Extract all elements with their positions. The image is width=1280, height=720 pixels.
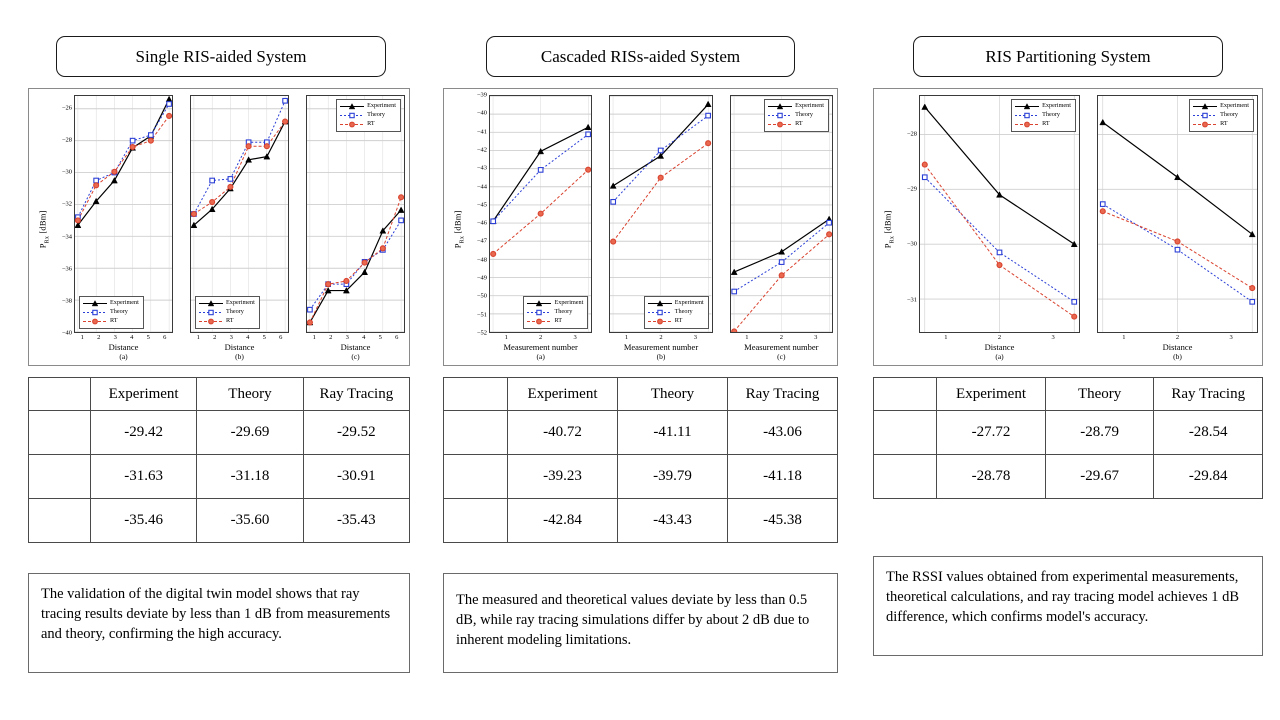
table-cell: -35.60 — [197, 499, 303, 543]
subplot-caption: (a) — [919, 352, 1080, 363]
table-header-cell: Ray Tracing — [1154, 378, 1263, 411]
x-tick-label: 6 — [163, 334, 166, 341]
x-axis-title: Distance — [306, 341, 405, 352]
legend-label: Experiment — [367, 102, 396, 111]
table-wrap-cascaded: ExperimentTheoryRay Tracing-40.72-41.11-… — [443, 377, 838, 543]
table-row: -39.23-39.79-41.18 — [444, 455, 838, 499]
y-tick-label: −39 — [477, 92, 487, 99]
legend-key-theory — [1192, 112, 1218, 119]
table-cell: -35.46 — [90, 499, 196, 543]
x-tick-label: 3 — [114, 334, 117, 341]
legend-row: Experiment — [339, 102, 396, 111]
chart-legend: ExperimentTheoryRT — [523, 296, 588, 329]
y-axis-label-wrap-2: PRx [dBm] — [876, 95, 902, 363]
x-label-row: Measurement number (c) — [713, 341, 833, 363]
y-tick-label: −50 — [477, 293, 487, 300]
x-tick-labels: 123456 — [190, 333, 289, 341]
y-tick-column — [713, 95, 730, 333]
legend-label: Experiment — [1220, 102, 1249, 111]
legend-key-theory — [339, 112, 365, 119]
table-cell — [444, 455, 508, 499]
x-tick-label: 3 — [1230, 334, 1233, 341]
y-tick-label: −52 — [477, 330, 487, 337]
chart-legend: ExperimentTheoryRT — [336, 99, 401, 132]
x-axis: 123 — [713, 333, 833, 341]
legend-row: Experiment — [526, 299, 583, 308]
legend-label: Experiment — [1042, 102, 1071, 111]
subplot-caption: (a) — [74, 352, 173, 363]
x-axis-title: Distance — [74, 341, 173, 352]
table-cell: -28.79 — [1045, 411, 1154, 455]
table-cell — [444, 411, 508, 455]
legend-row: Theory — [767, 111, 824, 120]
x-tick-label: 1 — [625, 334, 628, 341]
x-axis-title: Distance — [919, 341, 1080, 352]
table-cell: -28.78 — [937, 455, 1046, 499]
y-tick-label: −32 — [62, 201, 72, 208]
x-tick-label: 2 — [329, 334, 332, 341]
subplot-caption: (b) — [609, 352, 712, 363]
x-tick-label: 1 — [197, 334, 200, 341]
subplot-b-single: ExperimentTheoryRT 123456 Distance (b) — [173, 95, 289, 363]
legend-row: Experiment — [198, 299, 255, 308]
y-tick-label: −47 — [477, 238, 487, 245]
table-cell: -29.84 — [1154, 455, 1263, 499]
table-row: -29.42-29.69-29.52 — [29, 411, 410, 455]
x-tick-label: 2 — [539, 334, 542, 341]
plot-area: ExperimentTheoryRT — [489, 95, 592, 333]
table-cell: -39.79 — [618, 455, 728, 499]
legend-row: Theory — [1192, 111, 1249, 120]
table-wrap-partitioning: ExperimentTheoryRay Tracing-27.72-28.79-… — [873, 377, 1263, 499]
figure-page: Single RIS-aided System PRx [dBm] −26−28… — [0, 0, 1280, 720]
note-cascaded: The measured and theoretical values devi… — [443, 573, 838, 673]
table-header-cell: Theory — [197, 378, 303, 411]
plot-row: ExperimentTheoryRT — [1080, 95, 1258, 333]
legend-key-experiment — [526, 300, 552, 307]
x-label-row: Distance (b) — [173, 341, 289, 363]
y-tick-column: −28−29−30−31 — [902, 95, 919, 333]
table-header-cell — [29, 378, 91, 411]
table-row: -31.63-31.18-30.91 — [29, 455, 410, 499]
legend-row: Theory — [647, 308, 704, 317]
x-tick-labels: 123 — [730, 333, 833, 341]
legend-row: Experiment — [1192, 102, 1249, 111]
x-label-row: Distance (a) — [57, 341, 173, 363]
legend-row: RT — [339, 120, 396, 129]
x-tick-label: 3 — [1052, 334, 1055, 341]
subplot-c-cascaded: ExperimentTheoryRT 123 Measurement numbe… — [713, 95, 833, 363]
table-cell: -41.11 — [618, 411, 728, 455]
y-tick-label: −43 — [477, 165, 487, 172]
legend-key-experiment — [1192, 103, 1218, 110]
x-tick-label: 1 — [505, 334, 508, 341]
subplot-caption: (c) — [306, 352, 405, 363]
y-tick-label: −48 — [477, 256, 487, 263]
column-cascaded-ris: Cascaded RISs-aided System PRx [dBm] −39… — [443, 0, 838, 673]
x-tick-labels: 123 — [1097, 333, 1258, 341]
x-axis: 123456 — [289, 333, 405, 341]
table-row: -27.72-28.79-28.54 — [874, 411, 1263, 455]
x-tick-label: 1 — [313, 334, 316, 341]
x-tick-label: 4 — [362, 334, 365, 341]
x-tick-label: 2 — [780, 334, 783, 341]
y-tick-label: −51 — [477, 311, 487, 318]
y-tick-label: −46 — [477, 220, 487, 227]
table-row: -35.46-35.60-35.43 — [29, 499, 410, 543]
legend-row: RT — [198, 317, 255, 326]
x-label-row: Measurement number (b) — [592, 341, 712, 363]
legend-label: Experiment — [795, 102, 824, 111]
table-cell: -41.18 — [728, 455, 838, 499]
legend-label: Theory — [1220, 111, 1238, 120]
y-tick-label: −38 — [62, 297, 72, 304]
table-cell — [874, 411, 937, 455]
plot-area: ExperimentTheoryRT — [306, 95, 405, 333]
table-row: -42.84-43.43-45.38 — [444, 499, 838, 543]
plot-area: ExperimentTheoryRT — [1097, 95, 1258, 333]
x-axis-title: Measurement number — [489, 341, 592, 352]
x-tick-label: 3 — [573, 334, 576, 341]
plot-area: ExperimentTheoryRT — [190, 95, 289, 333]
legend-label: RT — [1042, 120, 1050, 129]
column-ris-partitioning: RIS Partitioning System PRx [dBm] −28−29… — [873, 0, 1263, 656]
legend-label: Experiment — [675, 299, 704, 308]
table-cell: -43.43 — [618, 499, 728, 543]
chart-legend: ExperimentTheoryRT — [79, 296, 144, 329]
y-tick-column — [289, 95, 306, 333]
legend-key-theory — [82, 309, 108, 316]
legend-row: Theory — [82, 308, 139, 317]
chart-legend: ExperimentTheoryRT — [195, 296, 260, 329]
y-tick-column: −39−40−41−42−43−44−45−46−47−48−49−50−51−… — [472, 95, 489, 333]
y-tick-label: −44 — [477, 183, 487, 190]
table-header-cell — [444, 378, 508, 411]
x-tick-labels: 123456 — [74, 333, 173, 341]
legend-row: RT — [1014, 120, 1071, 129]
y-tick-label: −26 — [62, 104, 72, 111]
legend-key-experiment — [767, 103, 793, 110]
x-axis: 123 — [902, 333, 1080, 341]
subplot-b-cascaded: ExperimentTheoryRT 123 Measurement numbe… — [592, 95, 712, 363]
legend-row: Experiment — [767, 102, 824, 111]
legend-label: RT — [795, 120, 803, 129]
x-axis: 123456 — [173, 333, 289, 341]
legend-label: Experiment — [226, 299, 255, 308]
table-header-row: ExperimentTheoryRay Tracing — [874, 378, 1263, 411]
table-header-cell: Ray Tracing — [728, 378, 838, 411]
x-tick-label: 2 — [659, 334, 662, 341]
x-tick-label: 3 — [694, 334, 697, 341]
x-label-row: Distance (b) — [1080, 341, 1258, 363]
legend-key-rt — [1192, 121, 1218, 128]
y-tick-column: −26−28−30−32−34−36−38−40 — [57, 95, 74, 333]
table-cell — [29, 499, 91, 543]
x-axis: 123 — [1080, 333, 1258, 341]
x-tick-labels: 123 — [489, 333, 592, 341]
y-tick-column — [592, 95, 609, 333]
legend-label: Experiment — [110, 299, 139, 308]
plot-area: ExperimentTheoryRT — [74, 95, 173, 333]
table-cell: -35.43 — [303, 499, 409, 543]
subplot-caption: (c) — [730, 352, 833, 363]
results-table-single: ExperimentTheoryRay Tracing-29.42-29.69-… — [28, 377, 410, 543]
x-tick-label: 1 — [944, 334, 947, 341]
y-tick-label: −34 — [62, 233, 72, 240]
legend-key-rt — [339, 121, 365, 128]
x-tick-labels: 123 — [609, 333, 712, 341]
subplot-a-single: −26−28−30−32−34−36−38−40 ExperimentTheor… — [57, 95, 173, 363]
table-row: -40.72-41.11-43.06 — [444, 411, 838, 455]
x-axis-title: Distance — [190, 341, 289, 352]
y-tick-label: −31 — [907, 296, 917, 303]
y-tick-label: −29 — [907, 186, 917, 193]
x-label-row: Distance (c) — [289, 341, 405, 363]
plot-row: −28−29−30−31 ExperimentTheoryRT — [902, 95, 1080, 333]
y-tick-label: −28 — [907, 130, 917, 137]
chart-legend: ExperimentTheoryRT — [1189, 99, 1254, 132]
table-cell: -43.06 — [728, 411, 838, 455]
x-tick-label: 2 — [1176, 334, 1179, 341]
subplot-b-partitioning: ExperimentTheoryRT 123 Distance (b) — [1080, 95, 1258, 363]
legend-label: Theory — [110, 308, 128, 317]
y-tick-label: −42 — [477, 146, 487, 153]
column-title-single-ris: Single RIS-aided System — [56, 36, 386, 77]
note-partitioning: The RSSI values obtained from experiment… — [873, 556, 1263, 656]
legend-label: Theory — [226, 308, 244, 317]
legend-key-rt — [1014, 121, 1040, 128]
y-axis-label-1: PRx [dBm] — [453, 210, 466, 248]
legend-key-rt — [82, 318, 108, 325]
x-tick-label: 3 — [814, 334, 817, 341]
legend-label: Theory — [554, 308, 572, 317]
table-header-row: ExperimentTheoryRay Tracing — [29, 378, 410, 411]
figure-ris-partitioning: PRx [dBm] −28−29−30−31 ExperimentTheoryR… — [873, 88, 1263, 366]
y-tick-label: −36 — [62, 265, 72, 272]
legend-key-theory — [198, 309, 224, 316]
legend-key-experiment — [1014, 103, 1040, 110]
x-tick-label: 5 — [147, 334, 150, 341]
legend-row: Experiment — [1014, 102, 1071, 111]
legend-label: Experiment — [554, 299, 583, 308]
table-cell — [29, 455, 91, 499]
legend-key-theory — [526, 309, 552, 316]
y-tick-label: −28 — [62, 137, 72, 144]
x-axis-title: Measurement number — [730, 341, 833, 352]
legend-row: RT — [82, 317, 139, 326]
y-axis-label-wrap-0: PRx [dBm] — [31, 95, 57, 363]
x-axis-title: Distance — [1097, 341, 1258, 352]
table-header-cell: Experiment — [90, 378, 196, 411]
legend-key-rt — [526, 318, 552, 325]
table-cell: -39.23 — [508, 455, 618, 499]
legend-row: Theory — [526, 308, 583, 317]
table-cell: -29.67 — [1045, 455, 1154, 499]
y-axis-label-2: PRx [dBm] — [883, 210, 896, 248]
legend-label: RT — [1220, 120, 1228, 129]
table-cell — [29, 411, 91, 455]
legend-row: RT — [526, 317, 583, 326]
legend-row: RT — [767, 120, 824, 129]
table-row: -28.78-29.67-29.84 — [874, 455, 1263, 499]
x-label-row: Measurement number (a) — [472, 341, 592, 363]
legend-key-experiment — [82, 300, 108, 307]
plot-row: ExperimentTheoryRT — [173, 95, 289, 333]
table-cell: -40.72 — [508, 411, 618, 455]
legend-label: RT — [110, 317, 118, 326]
table-header-cell: Theory — [1045, 378, 1154, 411]
x-tick-labels: 123456 — [306, 333, 405, 341]
table-header-cell: Experiment — [937, 378, 1046, 411]
x-axis-title: Measurement number — [609, 341, 712, 352]
x-tick-label: 1 — [1122, 334, 1125, 341]
x-tick-label: 2 — [998, 334, 1001, 341]
subplot-caption: (b) — [1097, 352, 1258, 363]
column-title-cascaded-ris: Cascaded RISs-aided System — [486, 36, 795, 77]
chart-legend: ExperimentTheoryRT — [644, 296, 709, 329]
subplot-caption: (a) — [489, 352, 592, 363]
x-tick-label: 3 — [230, 334, 233, 341]
subplot-a-partitioning: −28−29−30−31 ExperimentTheoryRT 123 Dist… — [902, 95, 1080, 363]
note-single: The validation of the digital twin model… — [28, 573, 410, 673]
table-cell: -27.72 — [937, 411, 1046, 455]
legend-row: Experiment — [82, 299, 139, 308]
x-tick-label: 4 — [246, 334, 249, 341]
x-tick-label: 5 — [263, 334, 266, 341]
legend-row: Experiment — [647, 299, 704, 308]
legend-label: Theory — [367, 111, 385, 120]
chart-legend: ExperimentTheoryRT — [1011, 99, 1076, 132]
legend-key-experiment — [339, 103, 365, 110]
table-cell: -42.84 — [508, 499, 618, 543]
column-single-ris: Single RIS-aided System PRx [dBm] −26−28… — [28, 0, 410, 673]
x-axis: 123 — [472, 333, 592, 341]
y-tick-label: −30 — [907, 241, 917, 248]
legend-label: RT — [554, 317, 562, 326]
subplot-caption: (b) — [190, 352, 289, 363]
legend-label: RT — [675, 317, 683, 326]
legend-key-rt — [647, 318, 673, 325]
legend-row: RT — [1192, 120, 1249, 129]
y-tick-label: −30 — [62, 169, 72, 176]
legend-key-theory — [767, 112, 793, 119]
x-tick-label: 3 — [346, 334, 349, 341]
plot-row: ExperimentTheoryRT — [713, 95, 833, 333]
y-tick-label: −45 — [477, 201, 487, 208]
figure-single-ris: PRx [dBm] −26−28−30−32−34−36−38−40 Exper… — [28, 88, 410, 366]
legend-label: Theory — [795, 111, 813, 120]
legend-key-experiment — [647, 300, 673, 307]
y-tick-column — [173, 95, 190, 333]
table-header-cell: Experiment — [508, 378, 618, 411]
table-cell: -30.91 — [303, 455, 409, 499]
table-cell: -29.42 — [90, 411, 196, 455]
y-axis-label-wrap-1: PRx [dBm] — [446, 95, 472, 363]
x-tick-label: 4 — [130, 334, 133, 341]
plot-row: −26−28−30−32−34−36−38−40 ExperimentTheor… — [57, 95, 173, 333]
x-tick-labels: 123 — [919, 333, 1080, 341]
x-tick-label: 5 — [379, 334, 382, 341]
results-table-partitioning: ExperimentTheoryRay Tracing-27.72-28.79-… — [873, 377, 1263, 499]
legend-key-rt — [198, 318, 224, 325]
x-tick-label: 1 — [745, 334, 748, 341]
plot-row: ExperimentTheoryRT — [289, 95, 405, 333]
x-tick-label: 1 — [81, 334, 84, 341]
plot-row: −39−40−41−42−43−44−45−46−47−48−49−50−51−… — [472, 95, 592, 333]
x-tick-label: 6 — [395, 334, 398, 341]
table-cell — [874, 455, 937, 499]
legend-row: Theory — [198, 308, 255, 317]
table-cell: -31.18 — [197, 455, 303, 499]
plot-area: ExperimentTheoryRT — [730, 95, 833, 333]
legend-row: RT — [647, 317, 704, 326]
column-title-ris-partitioning: RIS Partitioning System — [913, 36, 1223, 77]
legend-key-theory — [1014, 112, 1040, 119]
table-cell: -31.63 — [90, 455, 196, 499]
x-tick-label: 6 — [279, 334, 282, 341]
legend-key-rt — [767, 121, 793, 128]
table-header-cell — [874, 378, 937, 411]
table-cell: -29.69 — [197, 411, 303, 455]
results-table-cascaded: ExperimentTheoryRay Tracing-40.72-41.11-… — [443, 377, 838, 543]
y-tick-label: −41 — [477, 128, 487, 135]
legend-label: RT — [367, 120, 375, 129]
figure-cascaded-ris: PRx [dBm] −39−40−41−42−43−44−45−46−47−48… — [443, 88, 838, 366]
table-cell — [444, 499, 508, 543]
x-label-row: Distance (a) — [902, 341, 1080, 363]
table-header-cell: Ray Tracing — [303, 378, 409, 411]
x-axis: 123456 — [57, 333, 173, 341]
legend-row: Theory — [339, 111, 396, 120]
x-axis: 123 — [592, 333, 712, 341]
table-cell: -45.38 — [728, 499, 838, 543]
legend-key-theory — [647, 309, 673, 316]
legend-key-experiment — [198, 300, 224, 307]
table-cell: -28.54 — [1154, 411, 1263, 455]
legend-row: Theory — [1014, 111, 1071, 120]
subplot-c-single: ExperimentTheoryRT 123456 Distance (c) — [289, 95, 405, 363]
y-tick-label: −49 — [477, 275, 487, 282]
table-header-row: ExperimentTheoryRay Tracing — [444, 378, 838, 411]
legend-label: Theory — [1042, 111, 1060, 120]
x-tick-label: 2 — [213, 334, 216, 341]
plot-row: ExperimentTheoryRT — [592, 95, 712, 333]
chart-legend: ExperimentTheoryRT — [764, 99, 829, 132]
plot-area: ExperimentTheoryRT — [609, 95, 712, 333]
x-tick-label: 2 — [97, 334, 100, 341]
table-wrap-single: ExperimentTheoryRay Tracing-29.42-29.69-… — [28, 377, 410, 543]
y-tick-label: −40 — [477, 110, 487, 117]
y-tick-column — [1080, 95, 1097, 333]
y-tick-label: −40 — [62, 330, 72, 337]
y-axis-label-0: PRx [dBm] — [38, 210, 51, 248]
table-cell: -29.52 — [303, 411, 409, 455]
legend-label: RT — [226, 317, 234, 326]
plot-area: ExperimentTheoryRT — [919, 95, 1080, 333]
subplot-a-cascaded: −39−40−41−42−43−44−45−46−47−48−49−50−51−… — [472, 95, 592, 363]
table-header-cell: Theory — [618, 378, 728, 411]
legend-label: Theory — [675, 308, 693, 317]
